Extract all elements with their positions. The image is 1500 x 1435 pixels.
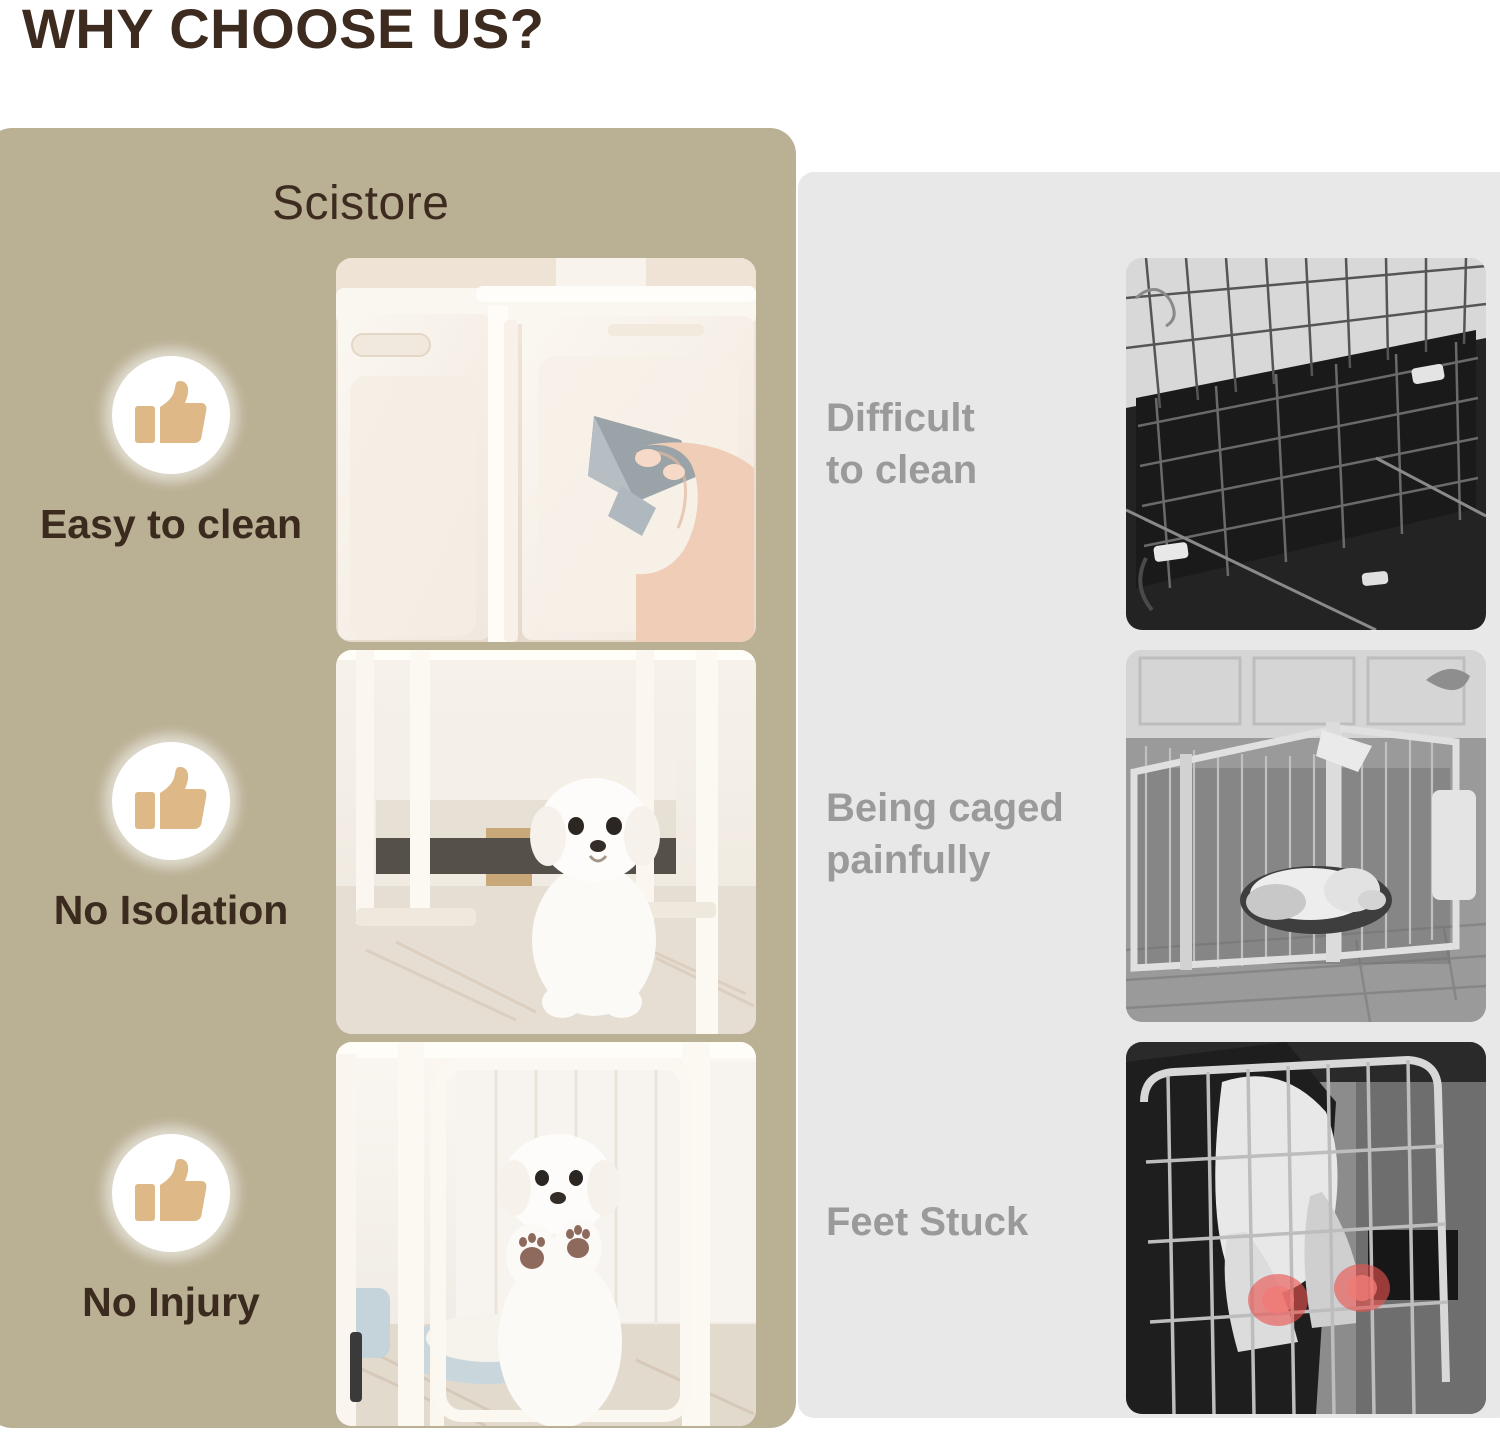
feature-label: No Isolation [54, 888, 289, 933]
drawback-line: painfully [826, 834, 1116, 886]
thumbs-up-icon [112, 356, 230, 474]
brand-photo-no-isolation [336, 650, 756, 1034]
feature-row-easy-to-clean: Easy to clean [16, 356, 326, 547]
drawback-label-difficult-to-clean: Difficult to clean [826, 392, 1116, 496]
feature-row-no-injury: No Injury [16, 1134, 326, 1325]
drawback-label-being-caged-painfully: Being caged painfully [826, 782, 1116, 886]
brand-photo-no-injury [336, 1042, 756, 1426]
drawback-line: Being caged [826, 782, 1116, 834]
drawback-label-feet-stuck: Feet Stuck [826, 1196, 1116, 1248]
feature-row-no-isolation: No Isolation [16, 742, 326, 933]
feature-label: Easy to clean [40, 502, 302, 547]
drawback-line: to clean [826, 444, 1116, 496]
feature-label: No Injury [82, 1280, 260, 1325]
thumbs-up-icon [112, 1134, 230, 1252]
drawback-line: Feet Stuck [826, 1196, 1116, 1248]
thumbs-up-icon [112, 742, 230, 860]
brand-photo-easy-to-clean [336, 258, 756, 642]
competitor-photo-feet-stuck [1126, 1042, 1486, 1414]
page-title: WHY CHOOSE US? [22, 0, 544, 61]
drawback-line: Difficult [826, 392, 1116, 444]
brand-name: Scistore [272, 176, 449, 231]
competitor-photo-difficult-to-clean [1126, 258, 1486, 630]
competitor-photo-being-caged-painfully [1126, 650, 1486, 1022]
